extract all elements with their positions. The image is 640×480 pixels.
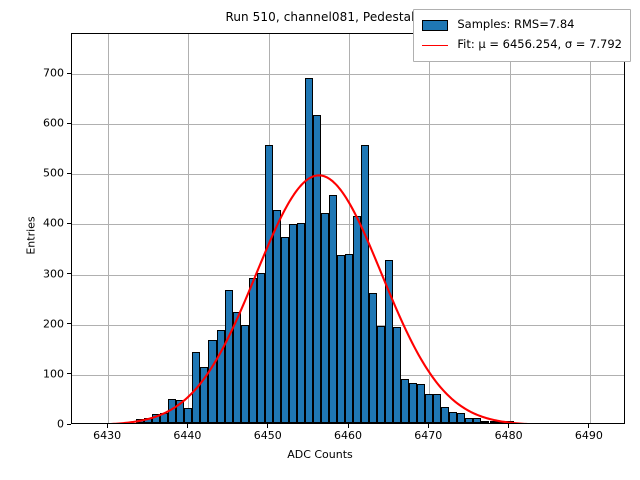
histogram-bar (329, 195, 337, 423)
histogram-bar (265, 145, 273, 423)
x-axis-tick-label: 6440 (173, 429, 201, 442)
histogram-bar (233, 312, 241, 423)
legend-line-icon (422, 45, 448, 46)
histogram-bar (184, 408, 192, 423)
histogram-bar (385, 260, 393, 423)
histogram-bar (425, 394, 433, 423)
x-axis-tick-mark (107, 424, 108, 428)
legend-label-samples: Samples: RMS=7.84 (457, 19, 574, 31)
gridline-horizontal (72, 174, 624, 175)
histogram-bar (473, 418, 481, 423)
x-axis-tick-mark (267, 424, 268, 428)
histogram-bar (409, 383, 417, 423)
y-axis-tick-label: 700 (4, 67, 64, 80)
histogram-bar (337, 255, 345, 423)
histogram-bar (176, 400, 184, 423)
gridline-horizontal (72, 124, 624, 125)
histogram-bar (305, 78, 313, 423)
histogram-bar (345, 254, 353, 423)
histogram-bar (208, 340, 216, 423)
y-axis-tick-label: 0 (4, 418, 64, 431)
y-axis-tick-label: 500 (4, 167, 64, 180)
x-axis-tick-label: 6490 (575, 429, 603, 442)
x-axis-tick-mark (428, 424, 429, 428)
histogram-bar (465, 418, 473, 423)
histogram-bar (136, 419, 144, 423)
x-axis-tick-mark (508, 424, 509, 428)
y-axis-tick-label: 600 (4, 117, 64, 130)
histogram-bar (449, 412, 457, 423)
histogram-bar (289, 224, 297, 424)
y-axis-tick-label: 200 (4, 317, 64, 330)
histogram-bar (257, 273, 265, 423)
histogram-bar (506, 421, 514, 423)
histogram-bar (273, 210, 281, 423)
gridline-vertical (590, 34, 591, 423)
histogram-figure: Run 510, channel081, Pedestal Entries AD… (0, 0, 640, 480)
gridline-vertical (108, 34, 109, 423)
histogram-bar (353, 216, 361, 423)
legend-label-fit: Fit: μ = 6456.254, σ = 7.792 (457, 39, 622, 51)
histogram-bar (457, 413, 465, 423)
histogram-bar (401, 379, 409, 423)
chart-legend: Samples: RMS=7.84 Fit: μ = 6456.254, σ =… (413, 9, 631, 62)
x-axis-tick-label: 6470 (414, 429, 442, 442)
x-axis-tick-label: 6450 (254, 429, 282, 442)
histogram-bar (144, 418, 152, 423)
gridline-horizontal (72, 74, 624, 75)
y-axis-tick-label: 300 (4, 267, 64, 280)
histogram-bar (200, 367, 208, 423)
histogram-bar (498, 421, 506, 423)
x-axis-tick-mark (588, 424, 589, 428)
gridline-vertical (188, 34, 189, 423)
histogram-bar (321, 213, 329, 423)
y-axis-tick-label: 400 (4, 217, 64, 230)
legend-entry-fit: Fit: μ = 6456.254, σ = 7.792 (422, 35, 622, 55)
histogram-bar (481, 421, 489, 423)
histogram-bar (417, 384, 425, 423)
histogram-bar (377, 326, 385, 423)
histogram-bar (241, 325, 249, 423)
histogram-bar (433, 394, 441, 423)
histogram-bar (369, 293, 377, 423)
histogram-bar (297, 223, 305, 424)
x-axis-tick-label: 6430 (93, 429, 121, 442)
histogram-bar (217, 330, 225, 423)
histogram-bar (160, 413, 168, 423)
gridline-vertical (510, 34, 511, 423)
x-axis-tick-mark (348, 424, 349, 428)
histogram-bar (192, 352, 200, 423)
x-axis-tick-label: 6460 (334, 429, 362, 442)
gridline-horizontal (72, 224, 624, 225)
legend-entry-samples: Samples: RMS=7.84 (422, 15, 622, 35)
plot-area (71, 33, 625, 424)
x-axis-tick-mark (187, 424, 188, 428)
histogram-bar (361, 145, 369, 423)
x-axis-label: ADC Counts (0, 448, 640, 461)
y-axis-tick-label: 100 (4, 367, 64, 380)
histogram-bar (225, 290, 233, 423)
histogram-bar (281, 237, 289, 423)
histogram-bar (249, 278, 257, 423)
histogram-bar (313, 115, 321, 423)
histogram-bar (152, 414, 160, 423)
histogram-bar (168, 399, 176, 423)
x-axis-tick-label: 6480 (495, 429, 523, 442)
histogram-bar (490, 421, 498, 423)
gridline-vertical (429, 34, 430, 423)
histogram-bar (393, 327, 401, 423)
histogram-bar (441, 407, 449, 423)
legend-patch-icon (422, 20, 448, 31)
